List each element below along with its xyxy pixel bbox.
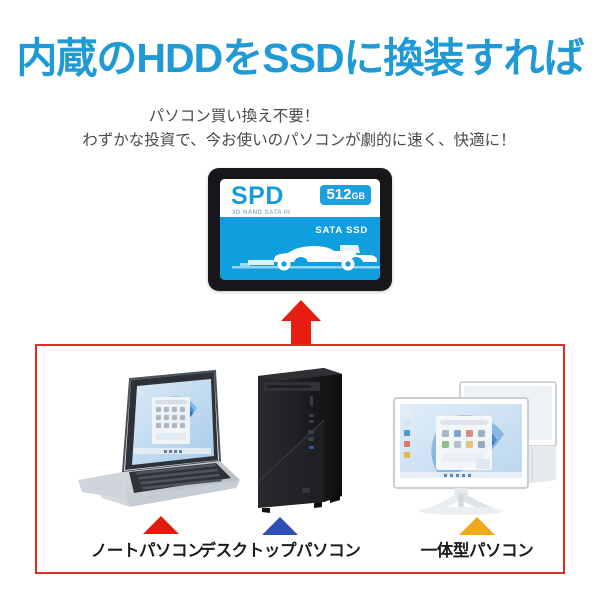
all-in-one-image — [388, 376, 560, 516]
desktop-tower-image — [252, 362, 348, 514]
caption-all-in-one: 一体型パソコン — [382, 537, 572, 561]
ssd-interface-text: SATA SSD — [315, 225, 368, 236]
laptop-image — [68, 368, 243, 513]
marker-triangle-all-in-one — [459, 517, 495, 535]
ssd-brand: SPD — [231, 184, 284, 209]
subtitle-line-1: パソコン買い換え不要！ — [0, 104, 600, 128]
subtitle-block: パソコン買い換え不要！ わずかな投資で、今お使いのパソコンが劇的に速く、快適に！ — [0, 104, 600, 152]
ssd-capacity-value: 512 — [326, 186, 351, 203]
marker-triangle-laptop — [143, 516, 179, 534]
promo-banner: 内蔵のHDDをSSDに換装すれば パソコン買い換え不要！ わずかな投資で、今お使… — [0, 0, 600, 600]
subtitle-line-2: わずかな投資で、今お使いのパソコンが劇的に速く、快適に！ — [0, 128, 600, 152]
ssd-label: SPD 3D NAND SATA III 512GB SATA SSD — [220, 179, 380, 280]
ssd-label-bottom: SATA SSD — [220, 217, 380, 280]
ssd-capacity-badge: 512GB — [320, 185, 371, 205]
marker-triangle-desktop — [262, 517, 298, 535]
ssd-label-top: SPD 3D NAND SATA III 512GB — [220, 179, 380, 217]
page-title: 内蔵のHDDをSSDに換装すれば — [0, 38, 600, 79]
upgrade-arrow-icon — [280, 300, 322, 344]
f1-race-car-icon — [228, 236, 380, 276]
ssd-product-image: SPD 3D NAND SATA III 512GB SATA SSD — [208, 168, 392, 291]
ssd-brand-subtitle: 3D NAND SATA III — [232, 209, 290, 216]
caption-desktop: デスクトップパソコン — [185, 537, 375, 561]
ssd-capacity-unit: GB — [352, 191, 366, 201]
